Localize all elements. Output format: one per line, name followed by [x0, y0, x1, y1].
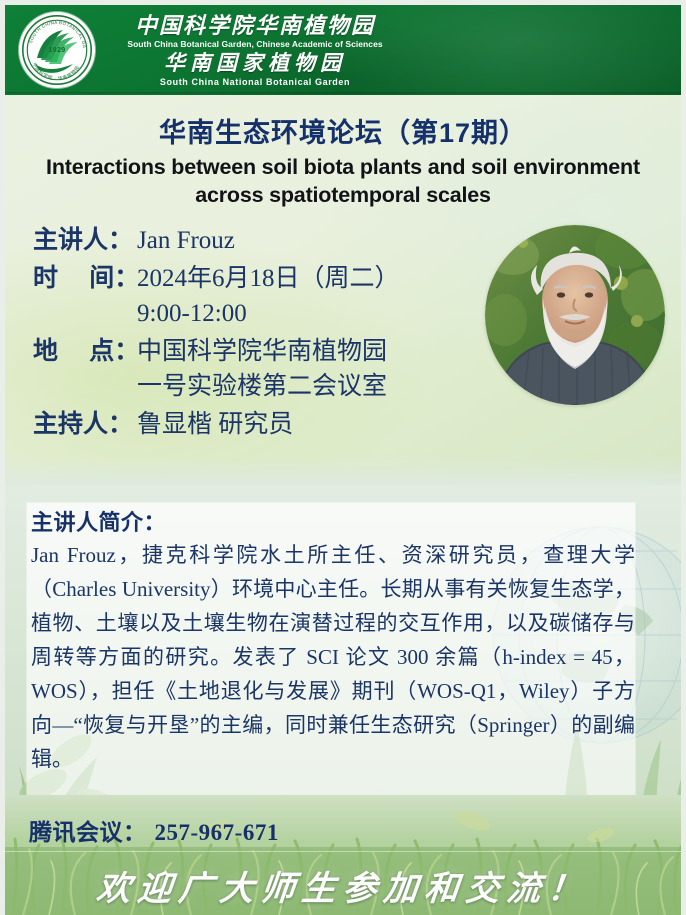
tencent-meeting-id: 257-967-671 — [155, 820, 279, 845]
forum-title-en: Interactions between soil biota plants a… — [45, 153, 641, 210]
org-name-secondary-cn: 华南国家植物园 — [105, 51, 405, 75]
org-name-secondary-en: South China National Botanical Garden — [105, 77, 405, 87]
forum-title-cn: 华南生态环境论坛（第17期） — [5, 111, 681, 150]
time-value-2: 9:00-12:00 — [137, 296, 463, 332]
detail-row-speaker: 主讲人： Jan Frouz — [33, 223, 463, 259]
time-value: 2024年6月18日（周二） — [137, 261, 463, 297]
speaker-portrait-avatar — [485, 225, 665, 405]
bio-section-text: Jan Frouz，捷克科学院水土所主任、资深研究员，查理大学（Charles … — [31, 538, 635, 776]
footer-divider — [5, 851, 681, 852]
upper-section: 华南生态环境论坛（第17期） Interactions between soil… — [5, 95, 681, 485]
speaker-value: Jan Frouz — [137, 223, 463, 259]
welcome-message: 欢迎广大师生参加和交流！ — [2, 861, 683, 910]
host-label: 主持人： — [33, 407, 137, 443]
logo-year-label: 1929 — [19, 47, 95, 54]
tencent-meeting-info: 腾讯会议：257-967-671 — [29, 813, 279, 847]
event-details: 主讲人： Jan Frouz 时 间： 2024年6月18日（周二） 9:00-… — [33, 223, 463, 444]
header-banner: SOUTH CHINA BOTANICAL GARDEN CAS 中国科学院 ·… — [5, 5, 681, 95]
host-value: 鲁显楷 研究员 — [137, 407, 463, 443]
seminar-poster: SOUTH CHINA BOTANICAL GARDEN CAS 中国科学院 ·… — [0, 0, 686, 915]
venue-label: 地 点： — [33, 334, 137, 370]
bio-section-title: 主讲人简介： — [31, 505, 166, 537]
venue-value-2: 一号实验楼第二会议室 — [137, 369, 463, 405]
org-name-primary-en: South China Botanical Garden, Chinese Ac… — [105, 39, 405, 49]
speaker-label: 主讲人： — [33, 223, 137, 259]
detail-row-time-2: 9:00-12:00 — [33, 296, 463, 332]
detail-row-venue-2: 一号实验楼第二会议室 — [33, 369, 463, 405]
detail-row-time: 时 间： 2024年6月18日（周二） — [33, 261, 463, 297]
org-name-primary-cn: 中国科学院华南植物园 — [105, 13, 405, 38]
botanical-garden-logo-icon: SOUTH CHINA BOTANICAL GARDEN CAS 中国科学院 ·… — [19, 12, 95, 88]
detail-row-host: 主持人： 鲁显楷 研究员 — [33, 407, 463, 443]
tencent-meeting-label: 腾讯会议： — [29, 820, 147, 845]
time-label: 时 间： — [33, 261, 137, 297]
org-name-primary: 中国科学院华南植物园 South China Botanical Garden,… — [105, 13, 405, 49]
detail-row-venue: 地 点： 中国科学院华南植物园 — [33, 334, 463, 370]
venue-value: 中国科学院华南植物园 — [137, 334, 463, 370]
org-name-secondary: 华南国家植物园 South China National Botanical G… — [105, 51, 405, 87]
